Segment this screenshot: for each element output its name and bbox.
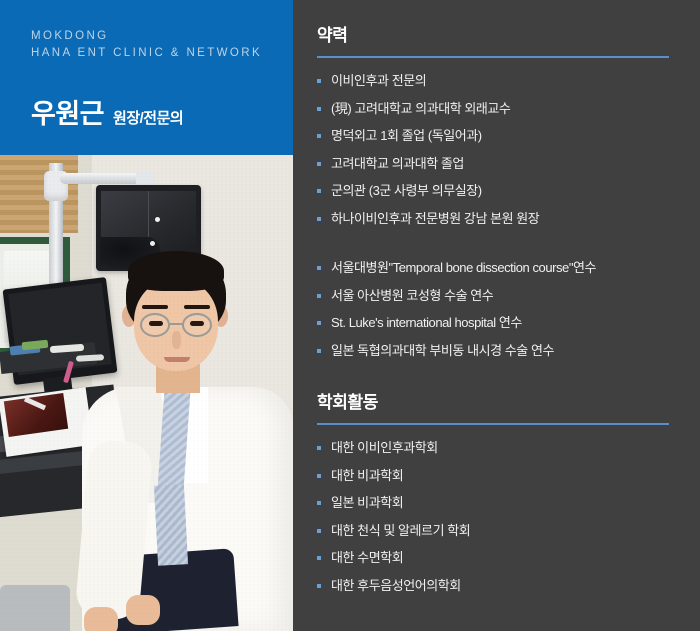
doctor-title: 원장/전문의 (113, 107, 183, 128)
photo-eye-left (149, 321, 163, 326)
list-item: 명덕외고 1회 졸업 (독일어과) (317, 122, 677, 150)
section-societies-title: 학회활동 (317, 392, 677, 414)
clinic-name: MOKDONG HANA ENT CLINIC & NETWORK (31, 28, 262, 62)
photo-glasses-bridge (170, 323, 182, 325)
photo-hair-fringe (128, 251, 224, 291)
career-list: 이비인후과 전문의 (現) 고려대학교 의과대학 외래교수 명덕외고 1회 졸업… (317, 67, 677, 364)
section-career-title: 약력 (317, 25, 677, 47)
photo-hand-left (84, 607, 118, 631)
photo-upper-monitor-highlight-1 (155, 217, 160, 222)
list-item: 대한 수면학회 (317, 544, 677, 572)
list-item: 일본 비과학회 (317, 489, 677, 517)
section-societies: 학회활동 대한 이비인후과학회 대한 비과학회 일본 비과학회 대한 천식 및 … (317, 392, 677, 599)
clinic-name-line1: MOKDONG (31, 30, 109, 42)
cv-panel: 약력 이비인후과 전문의 (現) 고려대학교 의과대학 외래교수 명덕외고 1회… (293, 0, 700, 631)
section-societies-rule (317, 423, 669, 425)
photo-necktie-lower (154, 484, 188, 565)
societies-list: 대한 이비인후과학회 대한 비과학회 일본 비과학회 대한 천식 및 알레르기 … (317, 434, 677, 599)
list-item: 서울대병원"Temporal bone dissection course"연수 (317, 254, 677, 282)
list-item: (現) 고려대학교 의과대학 외래교수 (317, 95, 677, 123)
list-item: 이비인후과 전문의 (317, 67, 677, 95)
photo-nose (172, 331, 181, 349)
doctor-portrait-photo (0, 155, 293, 631)
clinic-name-line2: HANA ENT CLINIC & NETWORK (31, 45, 262, 62)
photo-eye-right (190, 321, 204, 326)
list-item: 일본 독협의과대학 부비동 내시경 수술 연수 (317, 337, 677, 365)
photo-upper-monitor-highlight-2 (150, 241, 155, 246)
list-item: St. Luke's international hospital 연수 (317, 309, 677, 337)
profile-header: MOKDONG HANA ENT CLINIC & NETWORK 우원근 원장… (0, 0, 293, 155)
list-item: 고려대학교 의과대학 졸업 (317, 150, 677, 178)
list-item: 대한 후두음성언어의학회 (317, 572, 677, 600)
photo-chair (0, 585, 70, 631)
profile-page: MOKDONG HANA ENT CLINIC & NETWORK 우원근 원장… (0, 0, 700, 631)
list-item: 서울 아산병원 코성형 수술 연수 (317, 282, 677, 310)
doctor-name-line: 우원근 원장/전문의 (31, 92, 183, 131)
photo-eyebrow-right (184, 305, 210, 309)
photo-endoscope-arm-boom (60, 173, 146, 184)
left-column: MOKDONG HANA ENT CLINIC & NETWORK 우원근 원장… (0, 0, 293, 631)
doctor-name: 우원근 (31, 92, 104, 131)
list-item: 대한 천식 및 알레르기 학회 (317, 517, 677, 545)
photo-mouth (164, 357, 190, 362)
list-item: 대한 비과학회 (317, 462, 677, 490)
photo-hand-right (126, 595, 160, 625)
list-item: 대한 이비인후과학회 (317, 434, 677, 462)
list-item: 하나이비인후과 전문병원 강남 본원 원장 (317, 205, 677, 233)
list-item: 군의관 (3군 사령부 의무실장) (317, 177, 677, 205)
photo-eyebrow-left (142, 305, 168, 309)
section-career: 약력 이비인후과 전문의 (現) 고려대학교 의과대학 외래교수 명덕외고 1회… (317, 25, 677, 364)
section-career-rule (317, 56, 669, 58)
